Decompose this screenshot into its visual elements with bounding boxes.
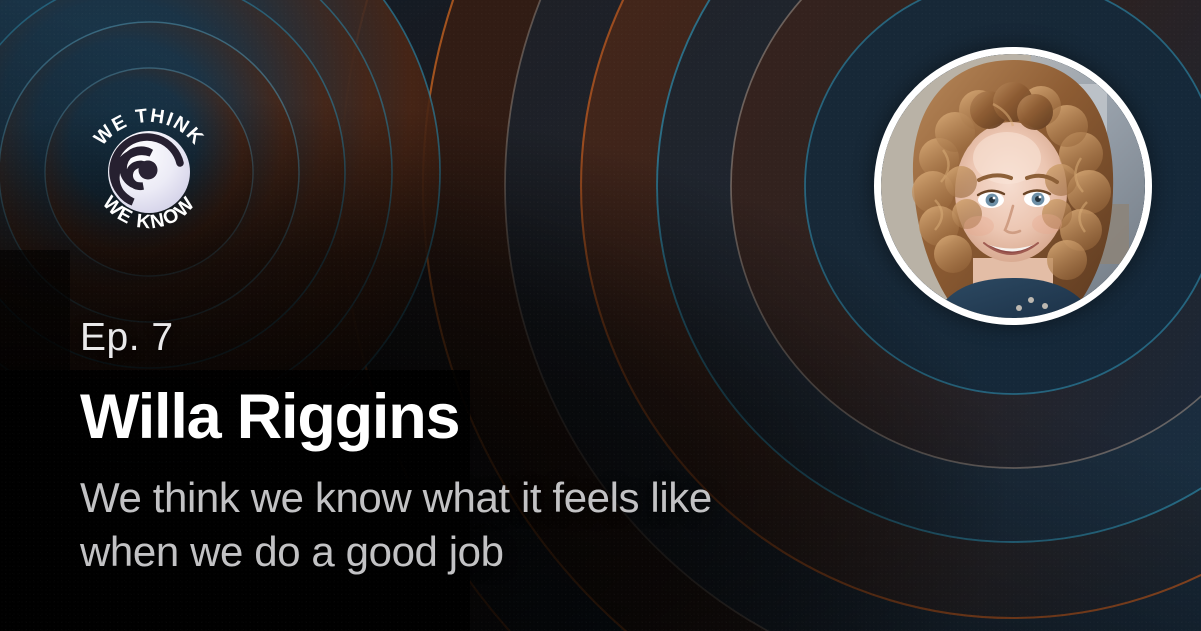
episode-text-block: Ep. 7 Willa Riggins We think we know wha… bbox=[80, 318, 880, 579]
episode-title-line-1: We think we know what it feels like bbox=[80, 474, 712, 521]
episode-title-line-2: when we do a good job bbox=[80, 528, 504, 575]
guest-portrait-photo bbox=[881, 54, 1145, 318]
guest-name-heading: Willa Riggins bbox=[80, 385, 880, 449]
episode-title: We think we know what it feels like when… bbox=[80, 471, 840, 579]
podcast-episode-cover: WE THINK WE KNOW bbox=[0, 0, 1201, 631]
guest-avatar[interactable] bbox=[874, 47, 1152, 325]
eye-spiral-icon bbox=[108, 131, 190, 213]
we-think-we-know-logo[interactable]: WE THINK WE KNOW bbox=[73, 96, 225, 248]
episode-number-label: Ep. 7 bbox=[80, 318, 880, 357]
